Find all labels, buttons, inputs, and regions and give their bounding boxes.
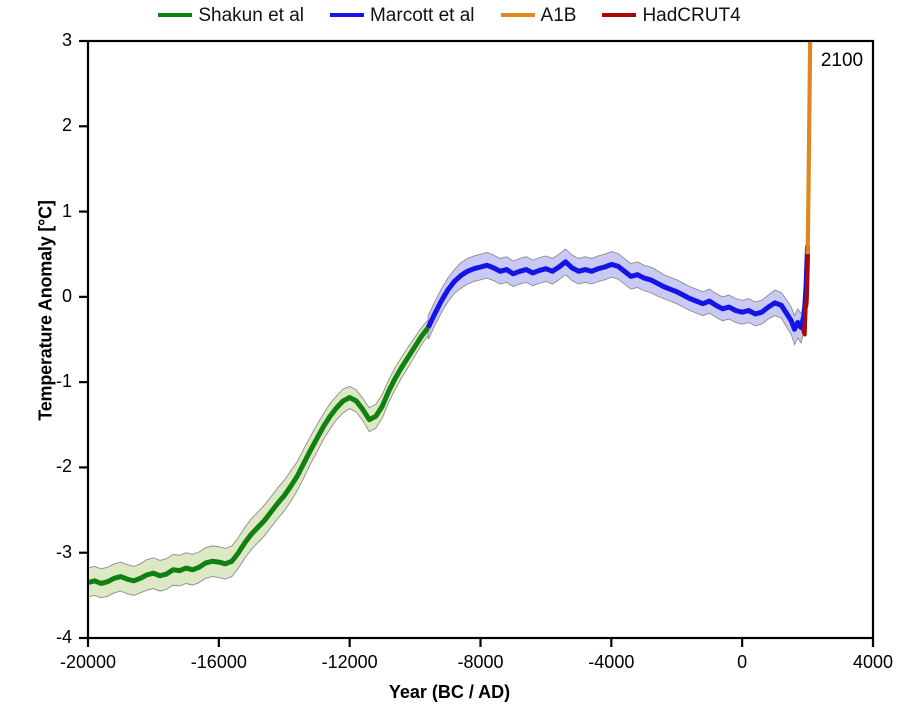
- y-tick-label: -1: [26, 371, 72, 392]
- chart-legend: Shakun et al Marcott et al A1B HadCRUT4: [0, 0, 899, 30]
- x-tick-label: -20000: [33, 652, 143, 673]
- y-tick-label: -2: [26, 456, 72, 477]
- legend-item-label: HadCRUT4: [642, 6, 740, 25]
- x-axis-title: Year (BC / AD): [0, 682, 899, 703]
- y-tick-label: -3: [26, 542, 72, 563]
- y-tick-label: -4: [26, 627, 72, 648]
- legend-item-label: Marcott et al: [370, 6, 475, 25]
- x-tick-label: -16000: [164, 652, 274, 673]
- y-tick-label: 3: [26, 30, 72, 51]
- legend-item-shakun[interactable]: Shakun et al: [158, 6, 304, 25]
- line-swatch-icon: [501, 13, 535, 17]
- y-tick-label: 1: [26, 201, 72, 222]
- temperature-anomaly-chart: Shakun et al Marcott et al A1B HadCRUT4 …: [0, 0, 899, 713]
- line-swatch-icon: [158, 13, 192, 17]
- annotation-2100-label: 2100: [821, 50, 863, 72]
- plot-canvas: [0, 0, 899, 713]
- line-swatch-icon: [330, 13, 364, 17]
- legend-item-label: A1B: [541, 6, 577, 25]
- x-tick-label: 4000: [818, 652, 899, 673]
- line-swatch-icon: [602, 13, 636, 17]
- legend-item-marcott[interactable]: Marcott et al: [330, 6, 475, 25]
- y-tick-label: 2: [26, 115, 72, 136]
- x-tick-label: -8000: [426, 652, 536, 673]
- x-tick-label: -4000: [556, 652, 666, 673]
- x-tick-label: 0: [687, 652, 797, 673]
- y-tick-label: 0: [26, 286, 72, 307]
- legend-item-label: Shakun et al: [198, 6, 304, 25]
- legend-item-hadcrut4[interactable]: HadCRUT4: [602, 6, 740, 25]
- legend-item-a1b[interactable]: A1B: [501, 6, 577, 25]
- x-tick-label: -12000: [295, 652, 405, 673]
